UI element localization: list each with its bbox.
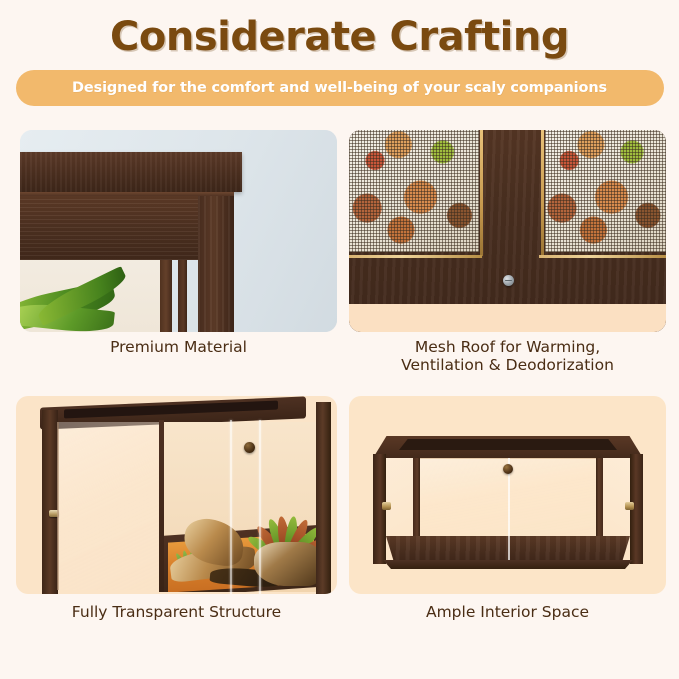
wood-leg [160, 260, 172, 332]
door-knob-right [625, 502, 634, 510]
enclosure-inner-post-right [596, 458, 603, 546]
caption-line: Fully Transparent Structure [16, 603, 337, 621]
feature-image-ample-interior-space [349, 396, 666, 594]
feature-card-fully-transparent-structure[interactable]: Fully Transparent Structure [16, 396, 337, 628]
door-knob-center [244, 442, 255, 453]
glass-door-seam [230, 420, 232, 594]
gold-trim-horizontal [349, 255, 482, 258]
rock-decor [254, 542, 316, 586]
wood-leg [178, 260, 187, 332]
wood-front-band [20, 196, 206, 260]
feature-card-mesh-roof[interactable]: Mesh Roof for Warming, Ventilation & Deo… [349, 130, 666, 362]
gold-trim-vertical [541, 130, 544, 256]
feature-image-premium-material [20, 130, 337, 332]
panel-base-strip [349, 304, 666, 332]
glass-door-seam [259, 420, 261, 594]
caption-line: Premium Material [20, 338, 337, 356]
glass-door-seam [508, 458, 510, 566]
subtitle-text: Designed for the comfort and well-being … [72, 80, 607, 96]
feature-card-premium-material[interactable]: Premium Material [20, 130, 337, 362]
enclosure-base-rail [378, 560, 638, 569]
page-title: Considerate Crafting [0, 14, 679, 60]
enclosure-interior [164, 422, 316, 592]
feature-card-ample-interior-space[interactable]: Ample Interior Space [349, 396, 666, 628]
subtitle-banner: Designed for the comfort and well-being … [16, 70, 664, 106]
feature-caption-mesh-roof: Mesh Roof for Warming, Ventilation & Deo… [349, 338, 666, 375]
enclosure-top-mesh [399, 439, 617, 450]
mesh-panel-right [545, 130, 666, 252]
plant-vignette [20, 254, 162, 332]
enclosure-right-post [316, 402, 331, 594]
feature-image-mesh-roof [349, 130, 666, 332]
feature-caption-fully-transparent-structure: Fully Transparent Structure [16, 603, 337, 621]
gold-trim-vertical [480, 130, 483, 256]
wood-corner-post [198, 196, 234, 332]
enclosure-inner-post-left [413, 458, 420, 546]
enclosure-left-post [42, 410, 58, 594]
wood-top-panel [20, 152, 242, 192]
feature-caption-premium-material: Premium Material [20, 338, 337, 356]
feature-grid: Premium Material Mesh Roof for Warming, … [0, 128, 679, 679]
feature-image-fully-transparent-structure [16, 396, 337, 594]
door-knob-left [382, 502, 391, 510]
gold-trim-horizontal [539, 255, 666, 258]
empty-enclosure [373, 436, 643, 564]
mesh-panel-left [349, 130, 479, 252]
feature-caption-ample-interior-space: Ample Interior Space [349, 603, 666, 621]
door-knob-center [503, 464, 513, 474]
header: Considerate Crafting Designed for the co… [0, 0, 679, 106]
glass-panel-left [57, 422, 161, 590]
caption-line: Ample Interior Space [349, 603, 666, 621]
caption-line: Mesh Roof for Warming, [349, 338, 666, 356]
screw-icon [503, 275, 514, 286]
caption-line: Ventilation & Deodorization [349, 356, 666, 374]
